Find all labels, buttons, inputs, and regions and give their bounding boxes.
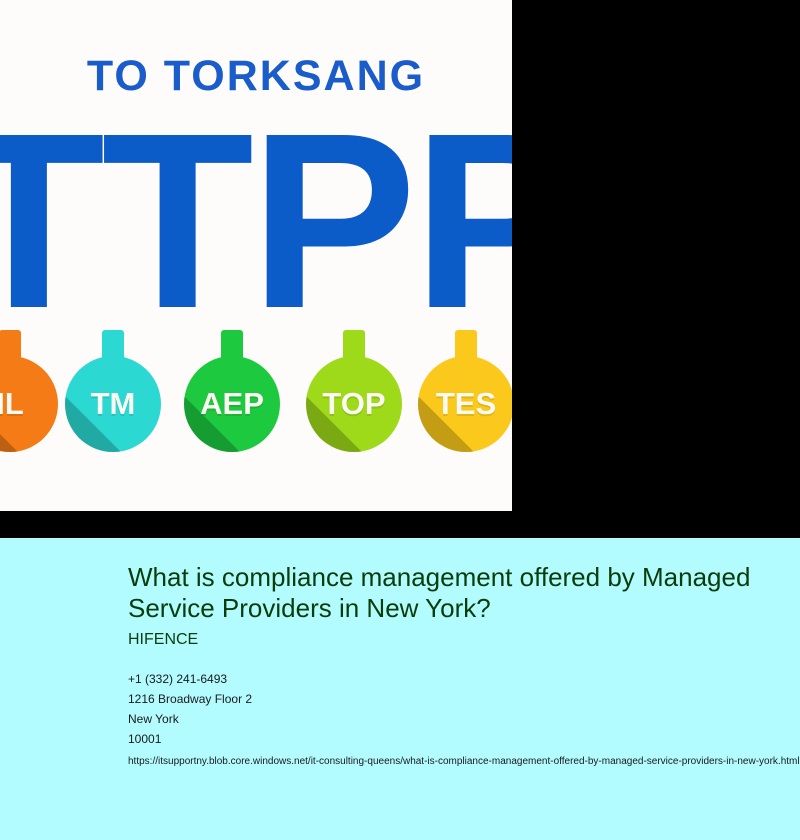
contact-street: 1216 Broadway Floor 2: [128, 689, 788, 709]
source-url[interactable]: https://itsupportny.blob.core.windows.ne…: [128, 751, 800, 772]
hero-badge-top: TOP: [302, 330, 406, 460]
info-panel: What is compliance management offered by…: [0, 538, 800, 840]
hero-badge-tm: TM: [61, 330, 165, 460]
hero-badge-il: IL: [0, 330, 62, 460]
badge-label: IL: [0, 356, 62, 452]
contact-postal-code: 10001: [128, 729, 788, 749]
badge-label: TOP: [302, 356, 406, 452]
hero-badge-aep: AEP: [180, 330, 284, 460]
hero-badge-row: ILTMAEPTOPTES: [0, 330, 512, 470]
badge-label: TES: [414, 356, 512, 452]
info-content: What is compliance management offered by…: [128, 562, 788, 772]
brand-name: HIFENCE: [128, 630, 788, 649]
hero-wordmark-text: TTPP: [0, 96, 512, 346]
hero-logo-image: TO TORKSANG TTPP ILTMAEPTOPTES: [0, 0, 512, 511]
hero-kicker-text: TO TORKSANG: [0, 52, 512, 101]
contact-phone[interactable]: +1 (332) 241-6493: [128, 669, 788, 689]
page-title: What is compliance management offered by…: [128, 562, 773, 624]
badge-label: TM: [61, 356, 165, 452]
hero-badge-tes: TES: [414, 330, 512, 460]
contact-block: +1 (332) 241-6493 1216 Broadway Floor 2 …: [128, 669, 788, 749]
badge-label: AEP: [180, 356, 284, 452]
hero-image-letterbox: TO TORKSANG TTPP ILTMAEPTOPTES: [0, 0, 800, 538]
contact-city: New York: [128, 709, 788, 729]
